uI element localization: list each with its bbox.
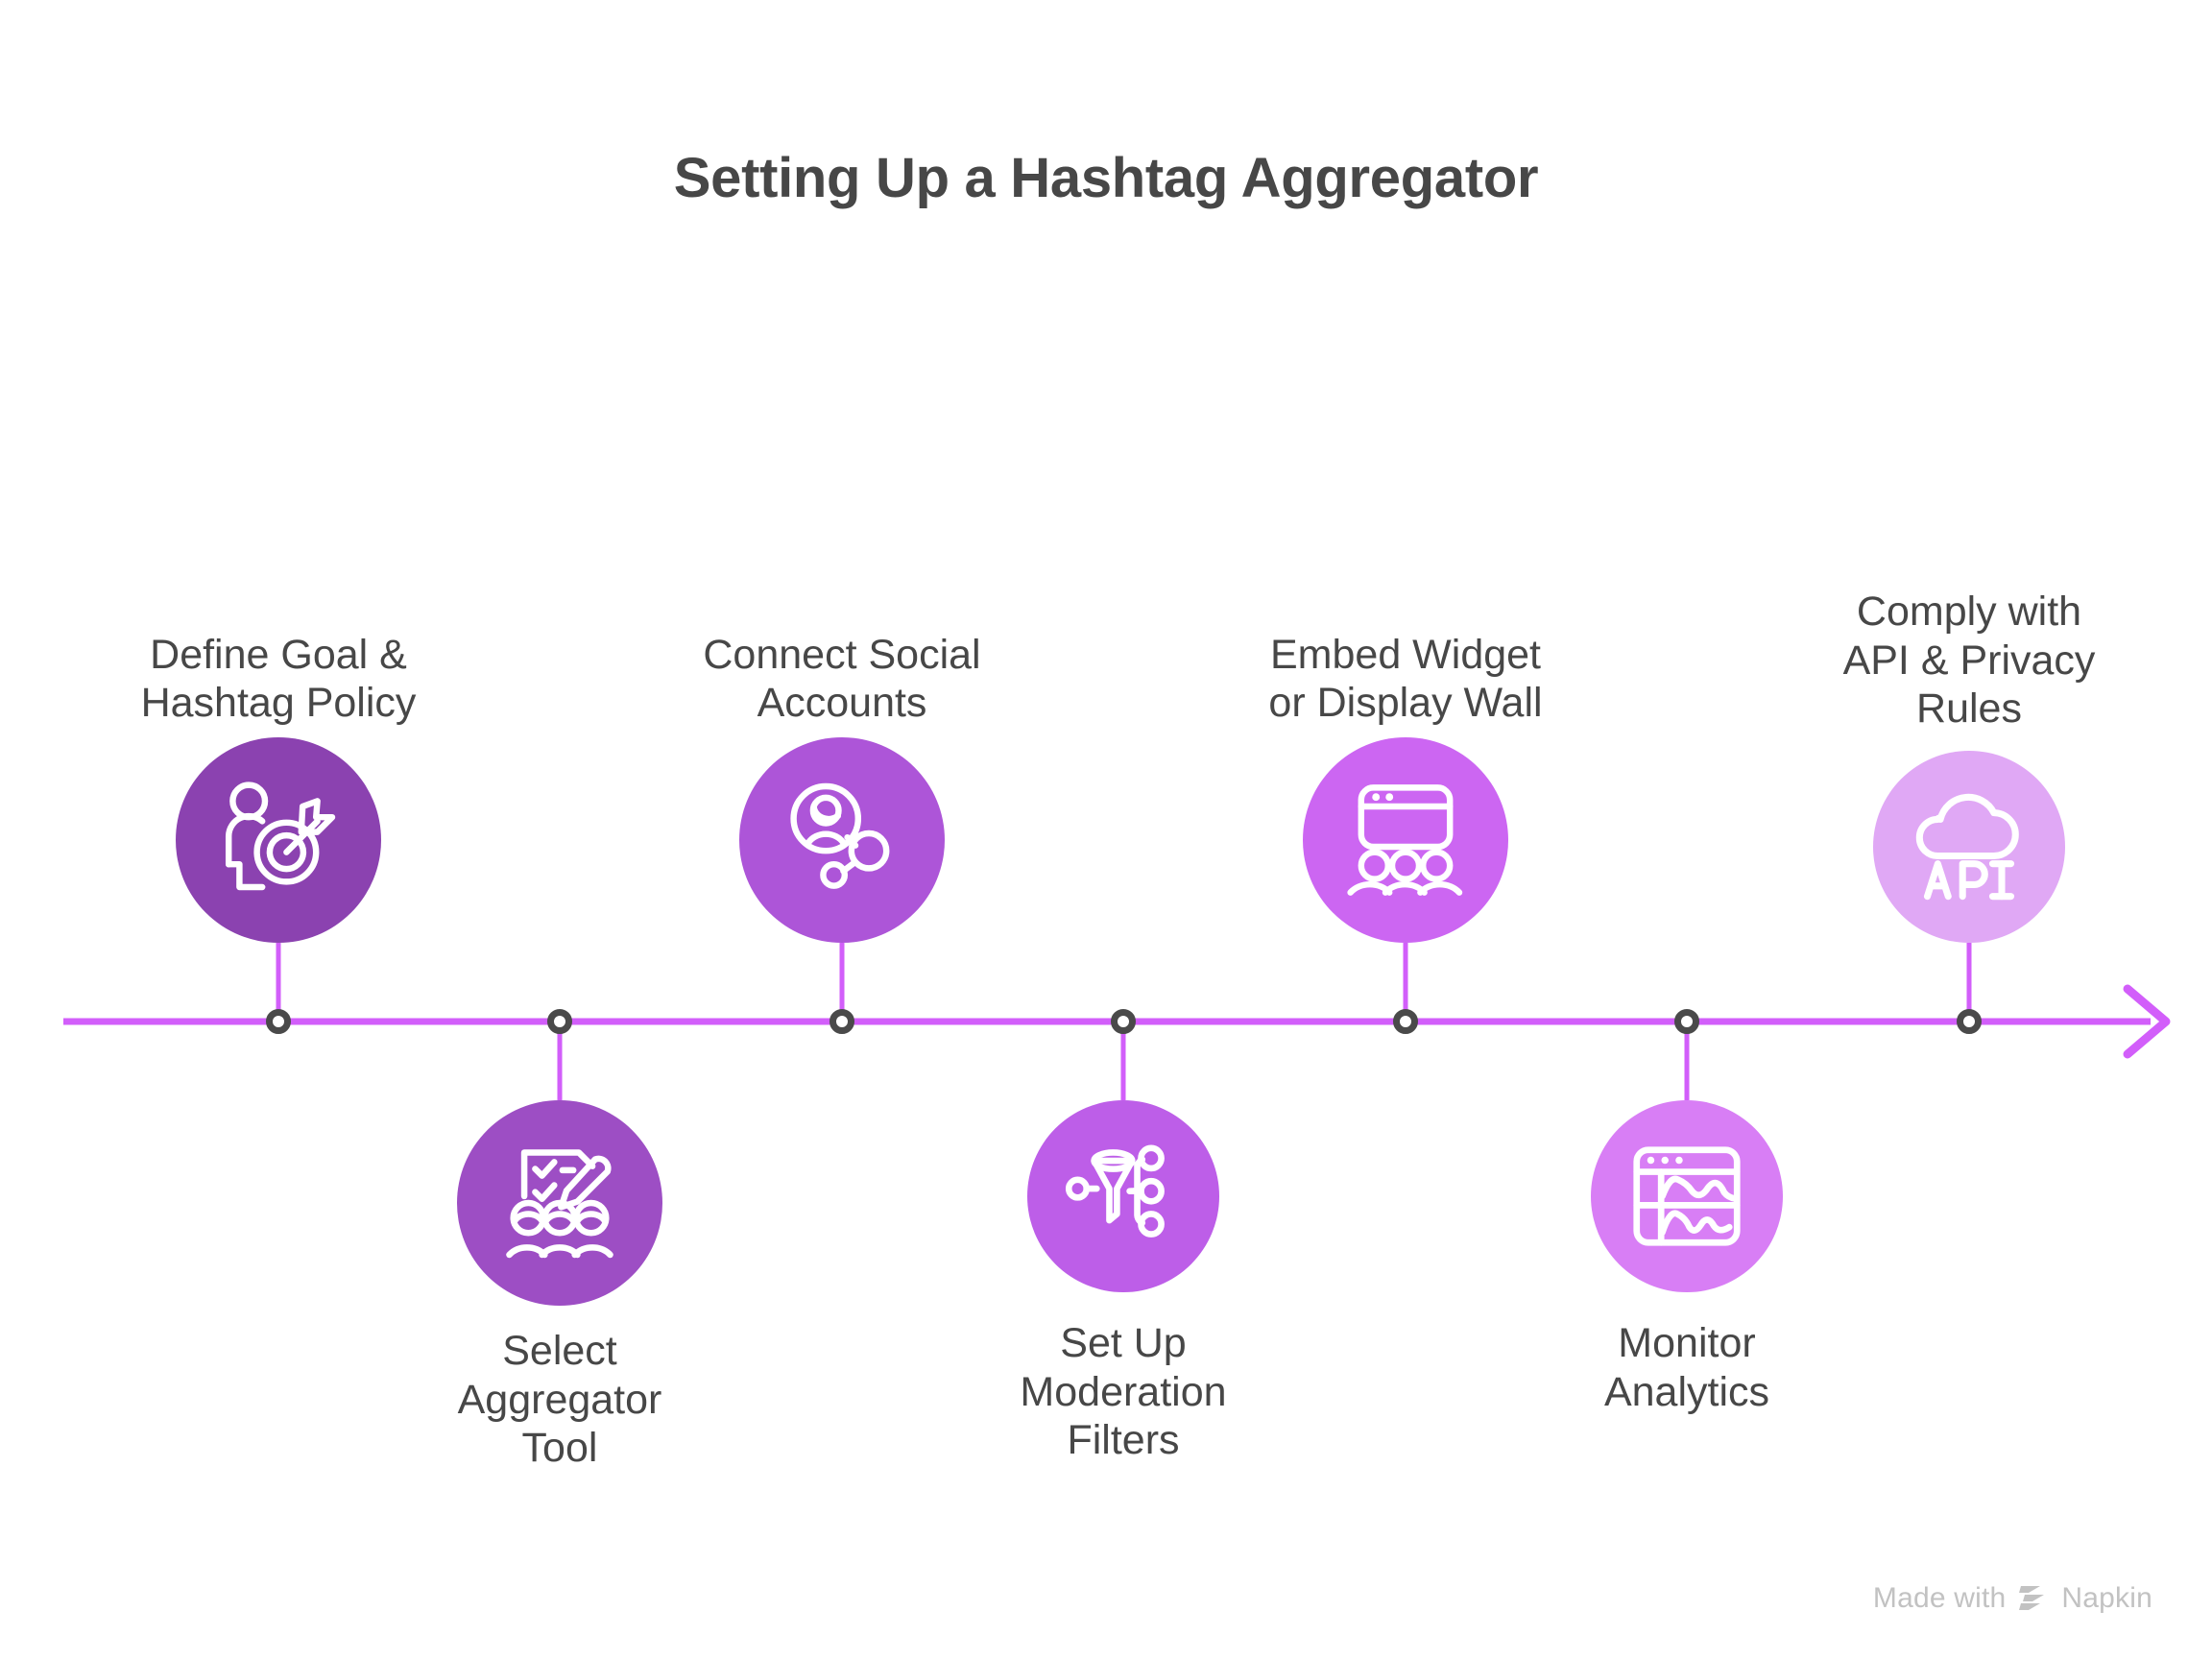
timeline-node-marker[interactable] [547, 1009, 572, 1034]
napkin-chevrons-icon [2017, 1584, 2050, 1613]
footer-brand-label: Napkin [2061, 1582, 2152, 1615]
step-icon-circle-5[interactable] [1303, 737, 1508, 943]
step-label-2: Select Aggregator Tool [339, 1327, 781, 1473]
timeline-node-marker[interactable] [829, 1009, 854, 1034]
checklist-pencil-people-icon [492, 1135, 628, 1271]
browser-window-audience-icon [1338, 773, 1473, 907]
timeline-node-marker[interactable] [1674, 1009, 1699, 1034]
timeline-node-marker[interactable] [1957, 1009, 1982, 1034]
step-label-7: Comply with API & Privacy Rules [1743, 588, 2195, 733]
step-icon-circle-3[interactable] [739, 737, 945, 943]
step-icon-circle-4[interactable] [1027, 1100, 1219, 1292]
step-label-6: Monitor Analytics [1476, 1319, 1898, 1416]
step-icon-circle-1[interactable] [176, 737, 381, 943]
goal-target-person-icon [211, 773, 346, 907]
step-label-3: Connect Social Accounts [621, 631, 1063, 728]
footer-made-with-label: Made with [1873, 1582, 2007, 1615]
step-icon-circle-6[interactable] [1591, 1100, 1783, 1292]
step-label-5: Embed Widget or Display Wall [1166, 631, 1646, 728]
timeline-node-marker[interactable] [1393, 1009, 1418, 1034]
footer-attribution[interactable]: Made with Napkin [1873, 1582, 2152, 1615]
funnel-filter-nodes-icon [1060, 1133, 1187, 1260]
step-icon-circle-7[interactable] [1873, 751, 2065, 943]
timeline-node-marker[interactable] [1111, 1009, 1136, 1034]
cloud-api-icon [1904, 781, 2034, 912]
social-network-share-icon [775, 773, 909, 907]
timeline-node-marker[interactable] [266, 1009, 291, 1034]
step-label-1: Define Goal & Hashtag Policy [58, 631, 499, 728]
step-label-4: Set Up Moderation Filters [898, 1319, 1349, 1465]
analytics-dashboard-icon [1623, 1132, 1751, 1261]
step-icon-circle-2[interactable] [457, 1100, 662, 1306]
